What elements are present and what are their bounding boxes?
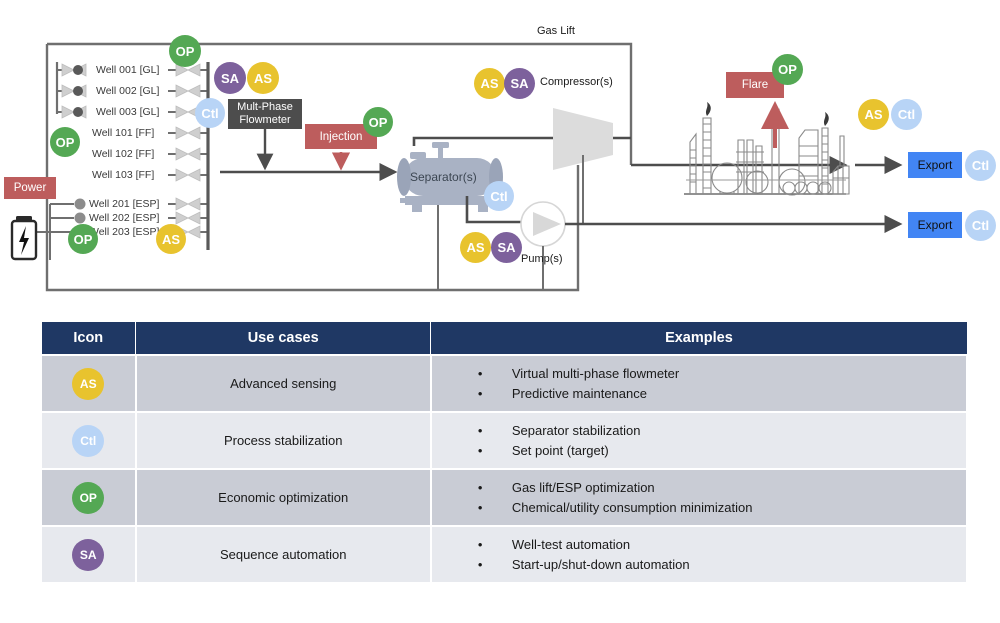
header-use-cases: Use cases [136, 322, 431, 356]
badge-op-injection[interactable]: OP [363, 107, 393, 137]
table-row: AS Advanced sensing Virtual multi-phase … [41, 355, 967, 412]
row-use-case: Sequence automation [136, 526, 431, 583]
badge-sa-compressor[interactable]: SA [504, 68, 535, 99]
well-label-002: Well 002 [GL] [96, 85, 159, 97]
badge-op-esp-wells[interactable]: OP [68, 224, 98, 254]
badge-ctl-export-liquid[interactable]: Ctl [965, 210, 996, 241]
process-flow-diagram: Gas Lift Well 001 [GL] Well 002 [GL] Wel… [0, 0, 1000, 312]
example-item: Virtual multi-phase flowmeter [478, 364, 966, 384]
badge-op-flare[interactable]: OP [772, 54, 803, 85]
badge-ctl-plant[interactable]: Ctl [891, 99, 922, 130]
table-row: SA Sequence automation Well-test automat… [41, 526, 967, 583]
badge-as-table: AS [72, 368, 104, 400]
refinery-icon [684, 102, 849, 195]
badge-as-pump[interactable]: AS [460, 232, 491, 263]
row-use-case: Process stabilization [136, 412, 431, 469]
choke-dot-icon [73, 65, 83, 117]
compressor-label: Compressor(s) [540, 76, 613, 88]
example-item: Gas lift/ESP optimization [478, 478, 966, 498]
badge-op-ff-wells[interactable]: OP [50, 127, 80, 157]
header-icon: Icon [41, 322, 136, 356]
example-item: Chemical/utility consumption minimizatio… [478, 498, 966, 518]
well-label-203: Well 203 [ESP] [89, 226, 159, 238]
well-label-102: Well 102 [FF] [92, 148, 154, 160]
use-case-table: Icon Use cases Examples AS Advanced sens… [40, 321, 968, 584]
badge-as-compressor[interactable]: AS [474, 68, 505, 99]
row-icon-cell: Ctl [41, 412, 136, 469]
valve-icon [176, 127, 200, 181]
badge-op-table: OP [72, 482, 104, 514]
badge-ctl-table: Ctl [72, 425, 104, 457]
export-box-liquid[interactable]: Export [908, 212, 962, 238]
badge-ctl-export-gas[interactable]: Ctl [965, 150, 996, 181]
badge-as-plant[interactable]: AS [858, 99, 889, 130]
example-item: Predictive maintenance [478, 384, 966, 404]
row-examples: Gas lift/ESP optimization Chemical/utili… [431, 469, 967, 526]
row-examples: Separator stabilization Set point (targe… [431, 412, 967, 469]
badge-sa-wellhead[interactable]: SA [214, 62, 246, 94]
pump-label: Pump(s) [521, 253, 563, 265]
power-box: Power [4, 177, 56, 199]
well-label-201: Well 201 [ESP] [89, 198, 159, 210]
badge-ctl-separator[interactable]: Ctl [484, 181, 514, 211]
row-use-case: Advanced sensing [136, 355, 431, 412]
table-row: OP Economic optimization Gas lift/ESP op… [41, 469, 967, 526]
separator-label: Separator(s) [410, 170, 477, 184]
row-examples: Virtual multi-phase flowmeter Predictive… [431, 355, 967, 412]
battery-icon [12, 216, 36, 259]
example-item: Well-test automation [478, 535, 966, 555]
ff-well-group [168, 127, 208, 181]
row-examples: Well-test automation Start-up/shut-down … [431, 526, 967, 583]
row-use-case: Economic optimization [136, 469, 431, 526]
gas-lift-label: Gas Lift [537, 25, 575, 37]
well-label-001: Well 001 [GL] [96, 64, 159, 76]
badge-op-gas-lift[interactable]: OP [169, 35, 201, 67]
multiphase-flowmeter-box: Mult-Phase Flowmeter [228, 99, 302, 129]
example-item: Separator stabilization [478, 421, 966, 441]
badge-as-wellhead[interactable]: AS [247, 62, 279, 94]
well-label-003: Well 003 [GL] [96, 106, 159, 118]
row-icon-cell: SA [41, 526, 136, 583]
well-label-202: Well 202 [ESP] [89, 212, 159, 224]
header-examples: Examples [431, 322, 967, 356]
row-icon-cell: OP [41, 469, 136, 526]
table-row: Ctl Process stabilization Separator stab… [41, 412, 967, 469]
well-label-103: Well 103 [FF] [92, 169, 154, 181]
example-item: Start-up/shut-down automation [478, 555, 966, 575]
badge-sa-table: SA [72, 539, 104, 571]
row-icon-cell: AS [41, 355, 136, 412]
badge-sa-pump[interactable]: SA [491, 232, 522, 263]
pump-icon [521, 202, 565, 246]
export-box-gas[interactable]: Export [908, 152, 962, 178]
example-item: Set point (target) [478, 441, 966, 461]
badge-as-esp-wells[interactable]: AS [156, 224, 186, 254]
badge-ctl-manifold[interactable]: Ctl [195, 98, 225, 128]
table-header-row: Icon Use cases Examples [41, 322, 967, 356]
well-label-101: Well 101 [FF] [92, 127, 154, 139]
